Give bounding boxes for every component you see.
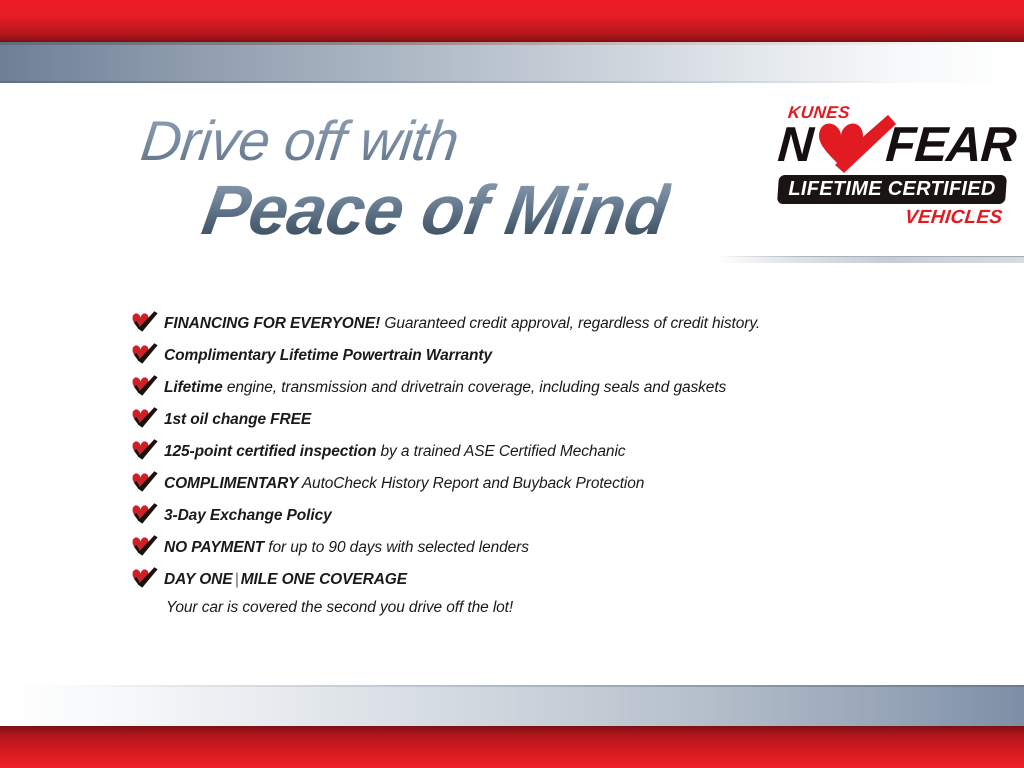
heart-check-icon bbox=[130, 471, 158, 492]
list-item: FINANCING FOR EVERYONE! Guaranteed credi… bbox=[130, 308, 930, 340]
logo-no-fear-wordmark: N FEAR bbox=[778, 121, 1012, 175]
headline-line-2: Peace of Mind bbox=[198, 175, 673, 245]
list-item-normal: Guaranteed credit approval, regardless o… bbox=[380, 315, 760, 332]
list-item: Lifetime engine, transmission and drivet… bbox=[130, 372, 930, 404]
list-item: Complimentary Lifetime Powertrain Warran… bbox=[130, 340, 930, 372]
list-item-text: COMPLIMENTARY AutoCheck History Report a… bbox=[164, 475, 644, 492]
list-item-normal: engine, transmission and drivetrain cove… bbox=[223, 379, 727, 396]
bottom-gray-band bbox=[0, 685, 1024, 726]
kunes-no-fear-logo: KUNES N FEAR LIFETIME CERTIFIED VEHICLES bbox=[778, 103, 1012, 238]
logo-word-fear: FEAR bbox=[884, 121, 1017, 170]
list-item-separator: | bbox=[233, 571, 241, 588]
list-item-bold: 125-point certified inspection bbox=[164, 443, 376, 460]
list-item: NO PAYMENT for up to 90 days with select… bbox=[130, 532, 930, 564]
list-item-bold: FINANCING FOR EVERYONE! bbox=[164, 315, 380, 332]
bottom-red-band bbox=[0, 726, 1024, 768]
headline-line-1: Drive off with bbox=[138, 113, 669, 169]
list-item-bold: 1st oil change FREE bbox=[164, 411, 311, 428]
list-item-normal: for up to 90 days with selected lenders bbox=[264, 539, 529, 556]
heart-check-icon bbox=[130, 535, 158, 556]
heart-check-icon bbox=[130, 439, 158, 460]
logo-word-vehicles: VEHICLES bbox=[903, 207, 1003, 229]
list-item-bold: DAY ONE bbox=[164, 571, 233, 588]
list-item-normal: by a trained ASE Certified Mechanic bbox=[376, 443, 625, 460]
list-item-text: Lifetime engine, transmission and drivet… bbox=[164, 379, 726, 396]
list-item-bold: NO PAYMENT bbox=[164, 539, 264, 556]
list-item-normal: AutoCheck History Report and Buyback Pro… bbox=[298, 475, 644, 492]
list-item-subtext: Your car is covered the second you drive… bbox=[164, 596, 930, 620]
list-item: 125-point certified inspection by a trai… bbox=[130, 436, 930, 468]
heart-check-icon bbox=[130, 503, 158, 524]
heart-check-icon bbox=[130, 567, 158, 588]
heart-check-icon bbox=[130, 311, 158, 332]
list-item-text: 3-Day Exchange Policy bbox=[164, 507, 332, 524]
list-item-bold: Lifetime bbox=[164, 379, 223, 396]
list-item-text: Complimentary Lifetime Powertrain Warran… bbox=[164, 347, 492, 364]
header: Drive off with Peace of Mind KUNES N FEA… bbox=[0, 95, 1024, 265]
list-item: 3-Day Exchange Policy bbox=[130, 500, 930, 532]
list-item: DAY ONE|MILE ONE COVERAGE Your car is co… bbox=[130, 564, 930, 620]
top-gray-band bbox=[0, 42, 1024, 83]
logo-letter-n: N bbox=[776, 121, 814, 170]
heart-check-icon bbox=[130, 343, 158, 364]
list-item: COMPLIMENTARY AutoCheck History Report a… bbox=[130, 468, 930, 500]
logo-lifetime-certified-text: LIFETIME CERTIFIED bbox=[778, 175, 1006, 204]
list-item-bold: COMPLIMENTARY bbox=[164, 475, 298, 492]
list-item-text: 1st oil change FREE bbox=[164, 411, 311, 428]
heart-check-icon bbox=[130, 375, 158, 396]
list-item: 1st oil change FREE bbox=[130, 404, 930, 436]
heart-check-icon bbox=[130, 407, 158, 428]
list-item-bold: 3-Day Exchange Policy bbox=[164, 507, 332, 524]
list-item-text: NO PAYMENT for up to 90 days with select… bbox=[164, 539, 529, 556]
list-item-text: DAY ONE|MILE ONE COVERAGE bbox=[164, 571, 407, 588]
header-divider bbox=[718, 256, 1024, 263]
list-item-text: FINANCING FOR EVERYONE! Guaranteed credi… bbox=[164, 315, 760, 332]
promo-page: Drive off with Peace of Mind KUNES N FEA… bbox=[0, 0, 1024, 768]
list-item-bold: Complimentary Lifetime Powertrain Warran… bbox=[164, 347, 492, 364]
heart-check-icon bbox=[810, 115, 896, 177]
list-item-text: 125-point certified inspection by a trai… bbox=[164, 443, 625, 460]
benefits-list: FINANCING FOR EVERYONE! Guaranteed credi… bbox=[130, 308, 930, 620]
top-red-band bbox=[0, 0, 1024, 42]
list-item-bold-2: MILE ONE COVERAGE bbox=[241, 571, 407, 588]
page-title: Drive off with Peace of Mind bbox=[138, 113, 662, 245]
